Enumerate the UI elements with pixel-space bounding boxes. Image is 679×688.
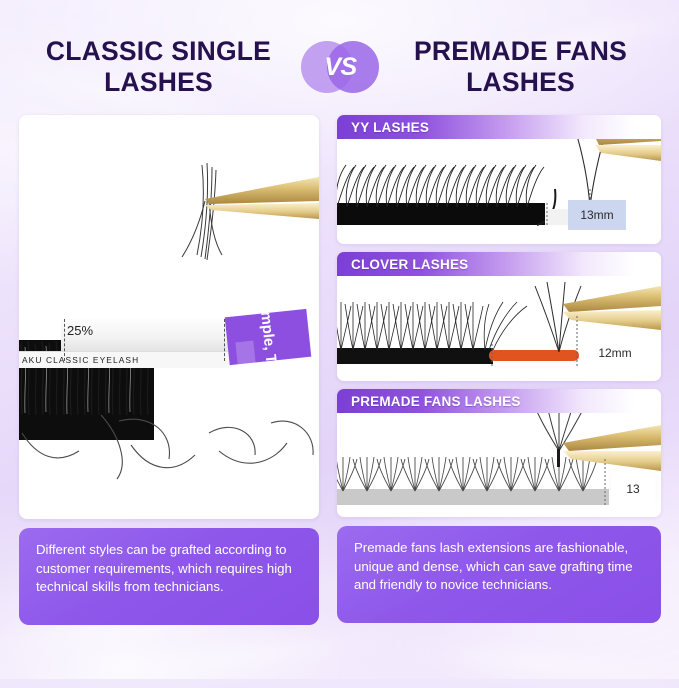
comparison-header: CLASSIC SINGLE LASHES VS PREMADE FANS LA… xyxy=(0,26,679,108)
panel-header-yy: YY LASHES xyxy=(337,115,661,139)
right-title: PREMADE FANS LASHES xyxy=(383,36,659,99)
sample-tag-label: mple, T xyxy=(257,310,279,364)
vs-badge: VS xyxy=(297,35,383,99)
tag-gloss xyxy=(235,341,256,366)
panel-title-yy: YY LASHES xyxy=(337,120,429,135)
right-column: YY LASHES xyxy=(337,115,661,623)
panel-clover-lashes: CLOVER LASHES xyxy=(337,252,661,381)
percent-label: 25% xyxy=(67,323,93,338)
classic-lashes-photo-card: 25% mple, T AKU CLASSIC EYELASH xyxy=(19,115,319,519)
panel-header-clover: CLOVER LASHES xyxy=(337,252,661,276)
left-column: 25% mple, T AKU CLASSIC EYELASH Differen… xyxy=(19,115,319,625)
sample-tag: mple, T xyxy=(225,309,312,365)
measurement-badge-clover: 12mm xyxy=(583,340,647,366)
panel-title-clover: CLOVER LASHES xyxy=(337,257,468,272)
panel-yy-lashes: YY LASHES xyxy=(337,115,661,244)
right-caption: Premade fans lash extensions are fashion… xyxy=(337,526,661,623)
left-title: CLASSIC SINGLE LASHES xyxy=(21,36,297,99)
vs-label: VS xyxy=(324,53,356,82)
panel-title-premade: PREMADE FANS LASHES xyxy=(337,394,521,409)
panel-header-premade: PREMADE FANS LASHES xyxy=(337,389,661,413)
measure-guide-line xyxy=(64,319,65,361)
left-caption: Different styles can be grafted accordin… xyxy=(19,528,319,625)
measurement-badge-premade: 13 xyxy=(611,475,655,503)
measurement-badge-yy: 13mm xyxy=(568,200,626,230)
brand-strip-label: AKU CLASSIC EYELASH xyxy=(22,355,139,365)
panel-premade-fans: PREMADE FANS LASHES xyxy=(337,389,661,517)
